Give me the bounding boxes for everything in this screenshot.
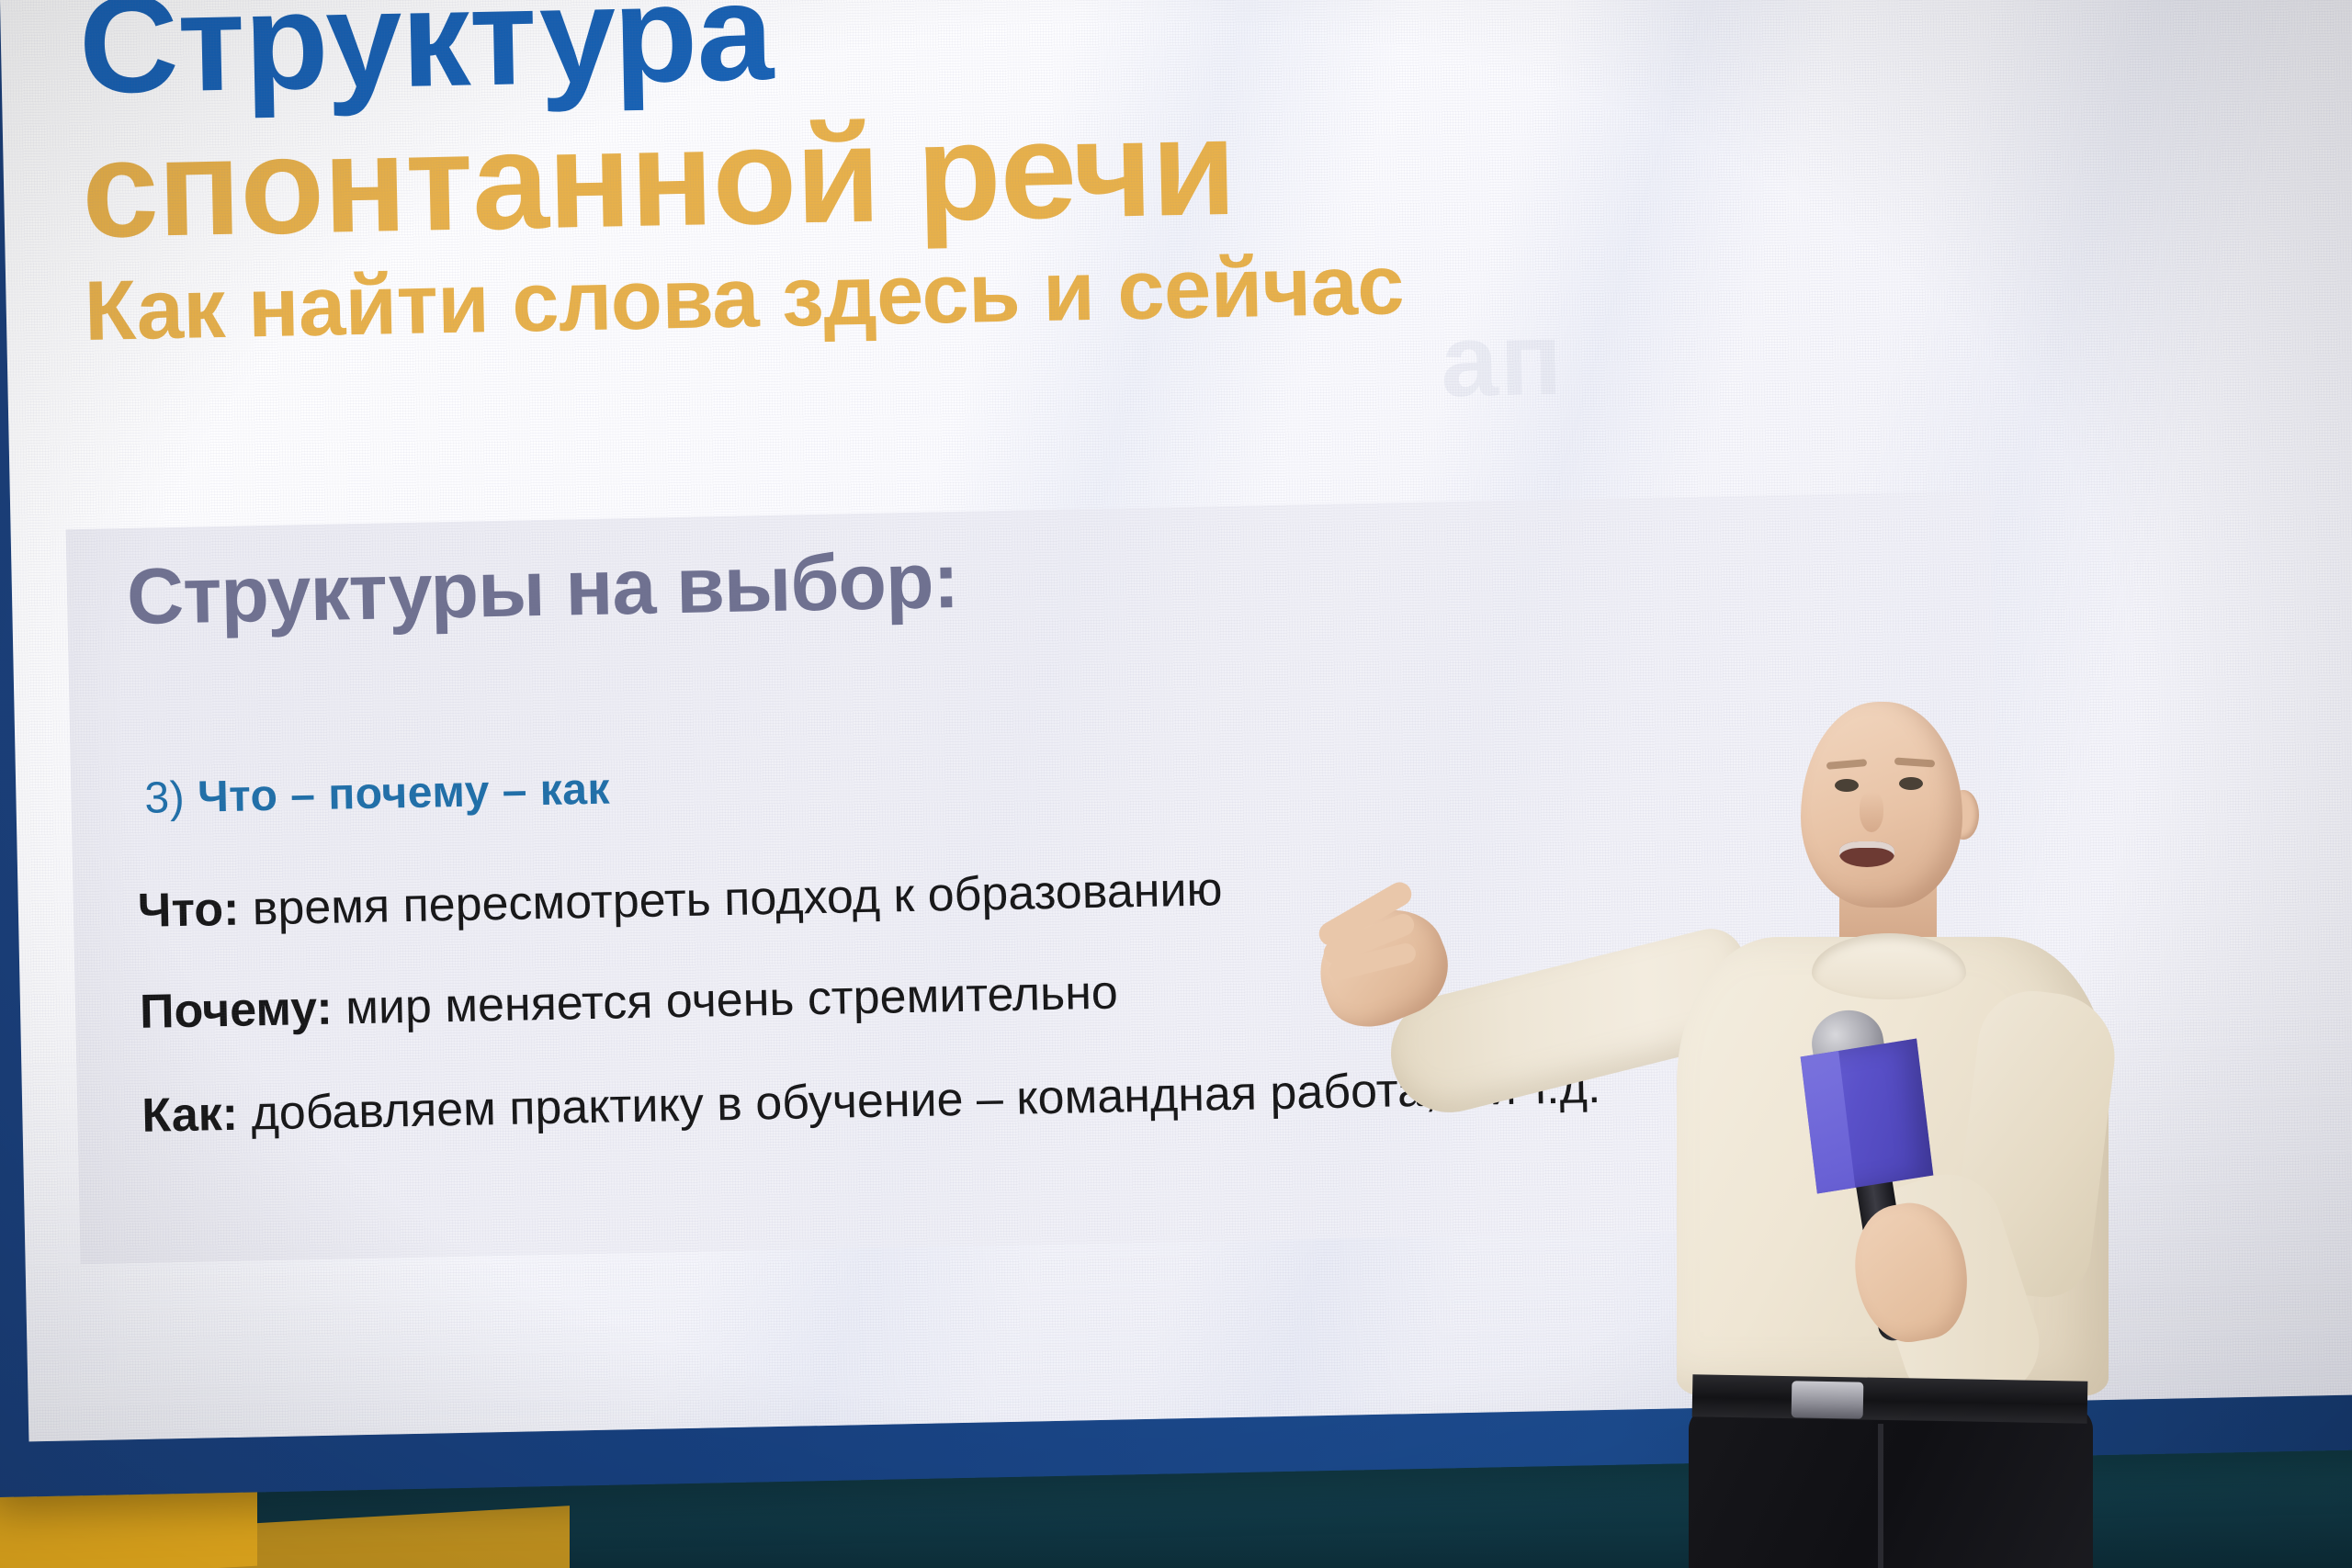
speaker-trousers [1689, 1407, 2093, 1568]
body-term-what: Что: [137, 883, 240, 938]
stage-photo: ап Структура спонтанной речи Как найти с… [0, 0, 2352, 1568]
slide-section-heading: Структуры на выбор: [126, 536, 959, 643]
speaker-belt [1692, 1374, 2088, 1423]
speaker-mouth [1839, 841, 1894, 867]
microphone-logo-cube [1801, 1039, 1934, 1194]
speaker-eye [1899, 777, 1923, 790]
speaker-belt-buckle [1792, 1381, 1864, 1418]
body-term-how: Как: [141, 1088, 239, 1143]
slide-list-item-3: 3) Что – почему – как [144, 764, 611, 824]
slide-title-line-2: спонтанной речи [81, 81, 2013, 260]
slide-title-block: Структура спонтанной речи Как найти слов… [78, 0, 2015, 356]
list-item-number: 3) [144, 773, 186, 823]
speaker-trouser-seam [1878, 1424, 1883, 1568]
body-term-why: Почему: [140, 982, 334, 1039]
speaker-person [1488, 661, 2315, 1568]
speaker-eye [1835, 779, 1859, 792]
speaker-nose [1860, 792, 1883, 832]
list-item-label: Что – почему – как [197, 765, 610, 822]
